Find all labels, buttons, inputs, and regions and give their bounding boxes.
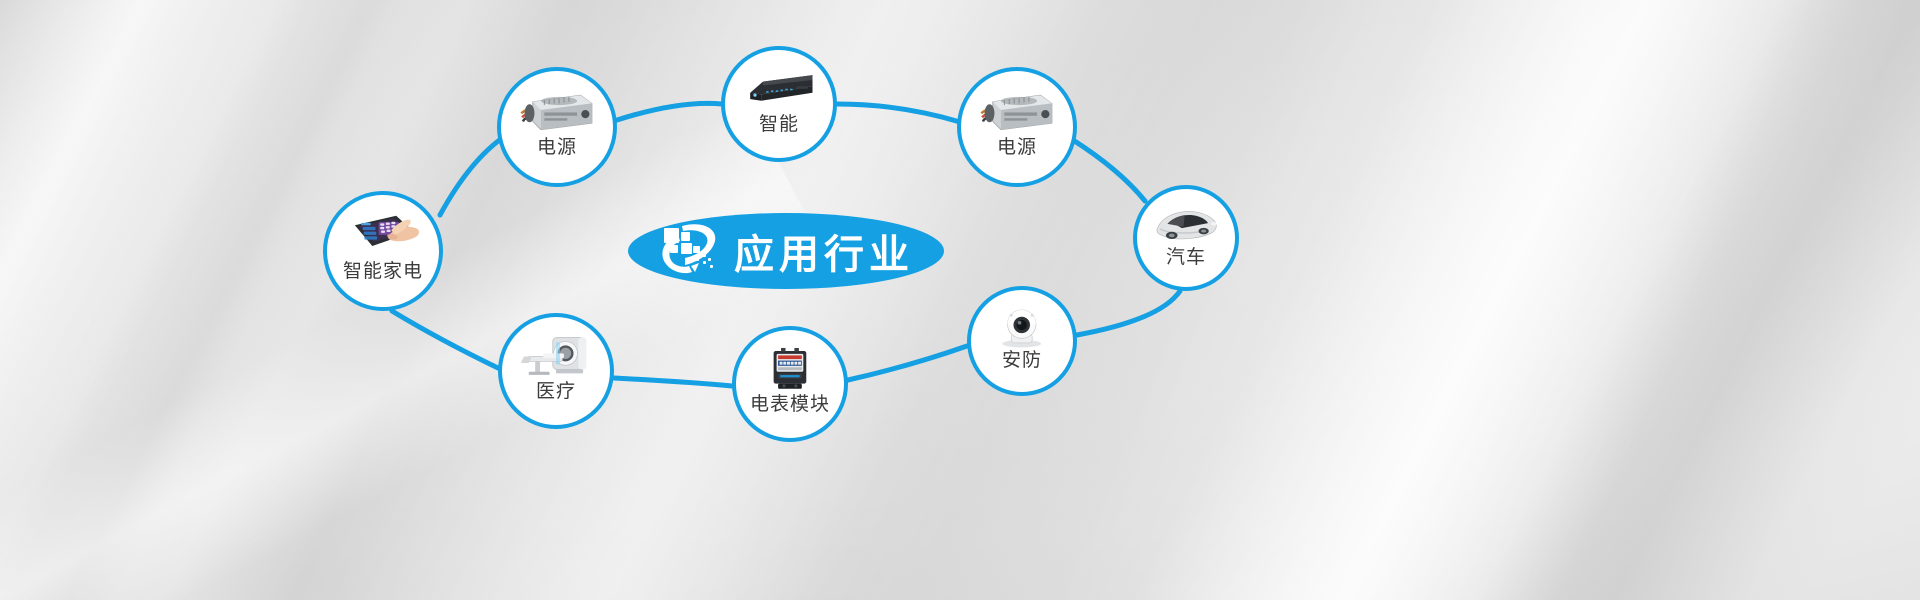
node-appliance[interactable]: 智能家电 bbox=[323, 191, 443, 311]
sports-car-icon bbox=[1150, 203, 1223, 246]
center-badge: 应用行业 bbox=[628, 213, 944, 289]
node-label: 医疗 bbox=[536, 382, 576, 403]
rack-server-icon bbox=[739, 65, 819, 113]
pc-power-supply-icon bbox=[976, 87, 1059, 136]
node-label: 汽车 bbox=[1166, 248, 1206, 269]
node-label: 电源 bbox=[537, 138, 577, 159]
application-industries-banner: 应用行业 电源 bbox=[0, 0, 1920, 600]
node-label: 智能家电 bbox=[343, 262, 423, 283]
node-meter[interactable]: 电表模块 bbox=[732, 326, 848, 442]
pc-power-supply-icon bbox=[516, 87, 599, 136]
node-label: 电源 bbox=[997, 138, 1037, 159]
node-label: 电表模块 bbox=[750, 395, 830, 416]
node-smart[interactable]: 智能 bbox=[721, 46, 837, 162]
node-label: 安防 bbox=[1002, 351, 1042, 372]
node-power-right[interactable]: 电源 bbox=[957, 67, 1077, 187]
mri-scanner-icon bbox=[516, 332, 596, 380]
node-security[interactable]: 安防 bbox=[967, 286, 1077, 396]
electric-meter-icon bbox=[750, 345, 830, 393]
node-label: 智能 bbox=[759, 115, 799, 136]
node-automotive[interactable]: 汽车 bbox=[1133, 185, 1239, 291]
node-medical[interactable]: 医疗 bbox=[498, 313, 614, 429]
pixel-orbit-logo-icon bbox=[658, 222, 720, 280]
badge-title: 应用行业 bbox=[734, 222, 914, 280]
tablet-touch-icon bbox=[342, 211, 425, 260]
node-power-left[interactable]: 电源 bbox=[497, 67, 617, 187]
cctv-camera-icon bbox=[984, 304, 1059, 349]
connector-ring bbox=[0, 0, 1920, 600]
